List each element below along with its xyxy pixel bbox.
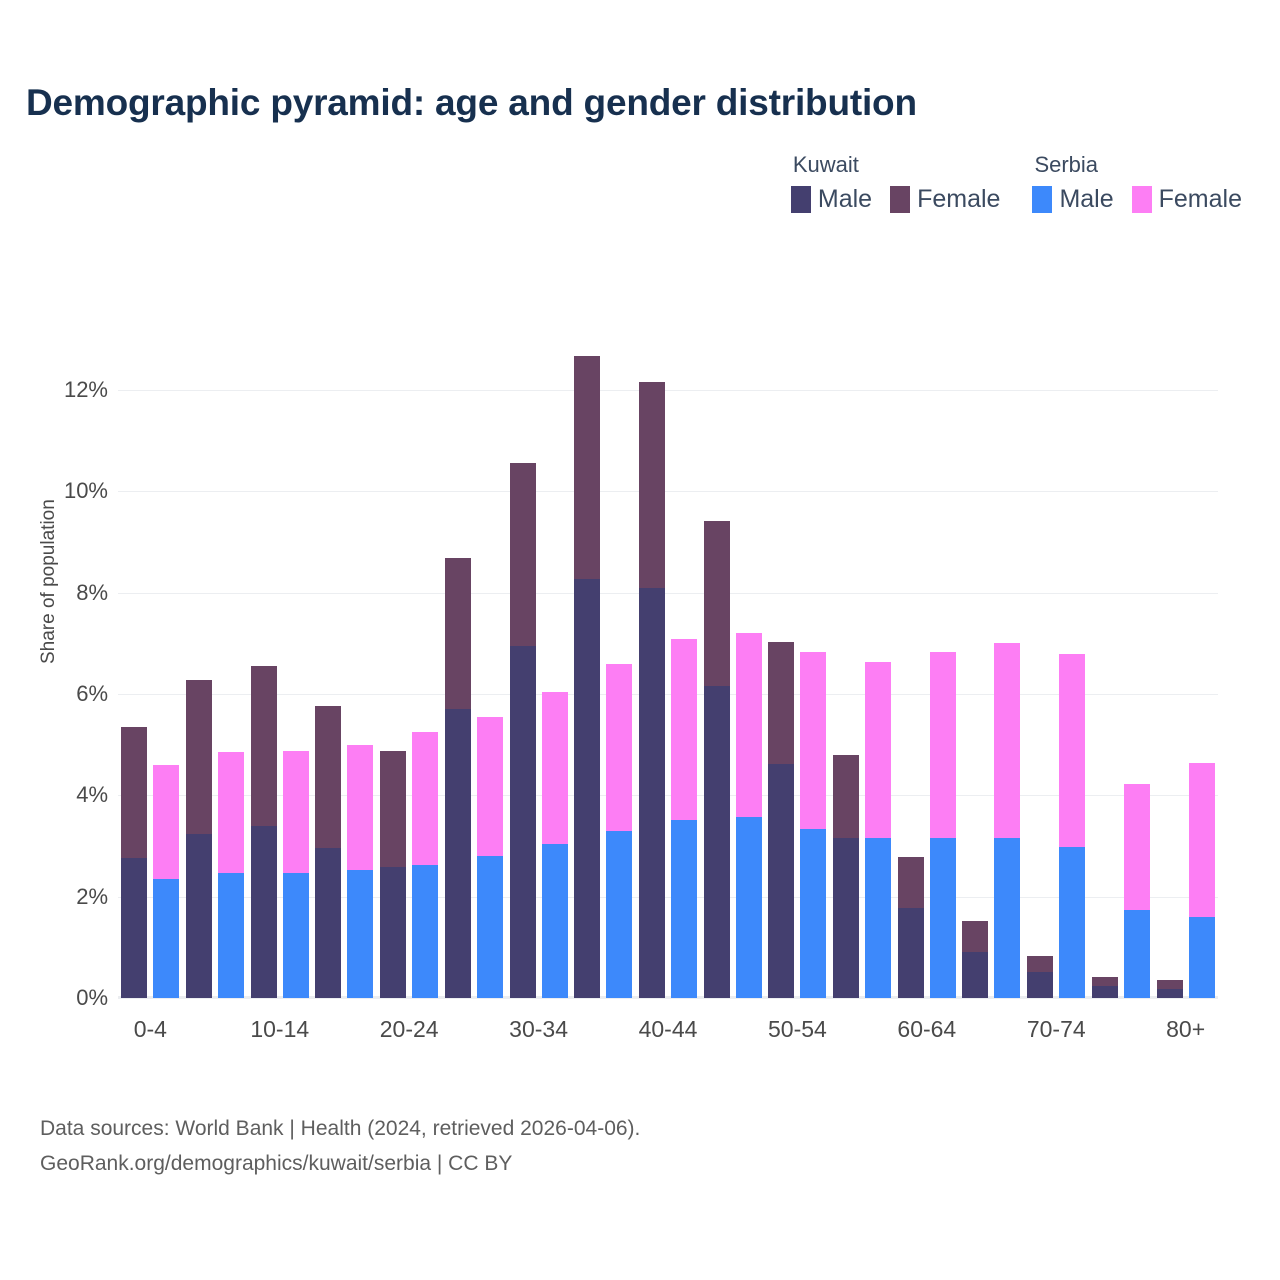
bar-segment-serbia-female[interactable] (283, 751, 309, 874)
bar-kuwait-65-69[interactable] (962, 921, 988, 998)
x-axis-tick-label: 0-4 (134, 1016, 167, 1043)
legend-group-serbia: Serbia Male Female (1032, 152, 1242, 213)
bar-segment-serbia-female[interactable] (1059, 654, 1085, 847)
x-axis-tick-label: 80+ (1166, 1016, 1205, 1043)
age-group-45-49 (700, 329, 765, 998)
bar-segment-kuwait-female[interactable] (833, 755, 859, 838)
bar-segment-serbia-male[interactable] (606, 831, 632, 998)
bar-segment-kuwait-male[interactable] (1157, 989, 1183, 998)
bar-segment-serbia-female[interactable] (412, 732, 438, 865)
bar-groups (118, 329, 1218, 998)
bar-kuwait-0-4[interactable] (121, 727, 147, 998)
bar-serbia-30-34[interactable] (542, 692, 568, 998)
bar-segment-serbia-male[interactable] (542, 844, 568, 998)
bar-serbia-15-19[interactable] (347, 745, 373, 998)
age-group-20-24 (377, 329, 442, 998)
age-group-5-9 (183, 329, 248, 998)
plot-area (118, 329, 1218, 998)
y-axis-tick-label: 4% (76, 782, 108, 808)
footer-note: Data sources: World Bank | Health (2024,… (40, 1112, 640, 1181)
bar-segment-serbia-female[interactable] (671, 639, 697, 820)
y-axis-tick-label: 6% (76, 681, 108, 707)
bar-segment-kuwait-male[interactable] (121, 858, 147, 998)
x-axis-tick-label: 40-44 (639, 1016, 698, 1043)
bar-segment-kuwait-female[interactable] (315, 706, 341, 848)
bar-segment-serbia-male[interactable] (736, 817, 762, 998)
bar-kuwait-35-39[interactable] (574, 356, 600, 998)
bar-segment-kuwait-male[interactable] (445, 709, 471, 998)
bar-segment-kuwait-female[interactable] (704, 521, 730, 686)
bar-kuwait-20-24[interactable] (380, 751, 406, 998)
bar-segment-kuwait-female[interactable] (121, 727, 147, 858)
x-axis-tick-label: 30-34 (509, 1016, 568, 1043)
legend-group-title-kuwait: Kuwait (791, 152, 1001, 178)
legend-group-kuwait: Kuwait Male Female (791, 152, 1001, 213)
bar-segment-serbia-female[interactable] (736, 633, 762, 817)
bar-kuwait-50-54[interactable] (768, 642, 794, 998)
bar-segment-serbia-female[interactable] (606, 664, 632, 831)
bar-segment-serbia-male[interactable] (1059, 847, 1085, 998)
bar-segment-kuwait-male[interactable] (1027, 972, 1053, 998)
y-axis-tick-label: 12% (64, 377, 108, 403)
legend-items-kuwait: Male Female (791, 186, 1001, 213)
bar-segment-kuwait-female[interactable] (251, 666, 277, 827)
bar-segment-serbia-male[interactable] (283, 873, 309, 998)
age-group-80+ (1153, 329, 1218, 998)
bar-segment-kuwait-female[interactable] (768, 642, 794, 765)
bar-kuwait-55-59[interactable] (833, 755, 859, 998)
bar-kuwait-60-64[interactable] (898, 857, 924, 998)
bar-segment-serbia-female[interactable] (218, 752, 244, 874)
footer-line-2: GeoRank.org/demographics/kuwait/serbia |… (40, 1147, 640, 1182)
page-title: Demographic pyramid: age and gender dist… (26, 82, 917, 124)
bar-segment-kuwait-male[interactable] (962, 952, 988, 998)
bar-serbia-60-64[interactable] (930, 652, 956, 998)
legend-item-serbia-female[interactable]: Female (1132, 186, 1242, 213)
legend-group-title-serbia: Serbia (1032, 152, 1242, 178)
chart-container: Demographic pyramid: age and gender dist… (0, 0, 1280, 1280)
legend-swatch-icon-kuwait-male (791, 186, 811, 213)
x-axis-tick-label: 20-24 (380, 1016, 439, 1043)
age-group-55-59 (830, 329, 895, 998)
y-axis-tick-label: 0% (76, 985, 108, 1011)
bar-kuwait-10-14[interactable] (251, 666, 277, 998)
age-group-15-19 (312, 329, 377, 998)
bar-segment-kuwait-female[interactable] (1027, 956, 1053, 971)
bar-segment-serbia-female[interactable] (994, 643, 1020, 838)
x-axis-tick-label: 10-14 (250, 1016, 309, 1043)
bar-segment-serbia-male[interactable] (1124, 910, 1150, 998)
legend-label-kuwait-male: Male (818, 187, 872, 212)
bar-segment-serbia-male[interactable] (994, 838, 1020, 998)
bar-kuwait-25-29[interactable] (445, 558, 471, 998)
age-group-35-39 (571, 329, 636, 998)
bar-segment-kuwait-female[interactable] (639, 382, 665, 588)
bar-segment-kuwait-male[interactable] (380, 867, 406, 998)
y-axis-tick-label: 10% (64, 478, 108, 504)
legend-item-kuwait-female[interactable]: Female (890, 186, 1000, 213)
bar-kuwait-5-9[interactable] (186, 680, 212, 998)
legend-item-kuwait-male[interactable]: Male (791, 186, 872, 213)
bar-segment-kuwait-female[interactable] (1157, 980, 1183, 989)
bar-segment-kuwait-female[interactable] (1092, 977, 1118, 987)
legend-item-serbia-male[interactable]: Male (1032, 186, 1113, 213)
bar-kuwait-70-74[interactable] (1027, 956, 1053, 998)
bar-kuwait-15-19[interactable] (315, 706, 341, 998)
bar-kuwait-75-79[interactable] (1092, 977, 1118, 998)
bar-serbia-35-39[interactable] (606, 664, 632, 998)
y-axis-tick-label: 2% (76, 884, 108, 910)
bar-segment-serbia-male[interactable] (800, 829, 826, 998)
bar-serbia-55-59[interactable] (865, 662, 891, 999)
bar-serbia-45-49[interactable] (736, 633, 762, 998)
bar-serbia-10-14[interactable] (283, 751, 309, 998)
age-group-60-64 (894, 329, 959, 998)
bar-segment-kuwait-male[interactable] (639, 588, 665, 998)
bar-segment-kuwait-male[interactable] (251, 826, 277, 998)
legend-label-serbia-female: Female (1159, 187, 1242, 212)
bar-segment-kuwait-female[interactable] (186, 680, 212, 835)
bar-segment-serbia-male[interactable] (930, 838, 956, 998)
legend-label-kuwait-female: Female (917, 187, 1000, 212)
x-axis-tick-label: 60-64 (897, 1016, 956, 1043)
age-group-75-79 (1089, 329, 1154, 998)
bar-segment-kuwait-male[interactable] (574, 579, 600, 998)
bar-segment-serbia-female[interactable] (347, 745, 373, 871)
bar-segment-serbia-male[interactable] (347, 870, 373, 998)
bar-kuwait-30-34[interactable] (510, 463, 536, 998)
bar-segment-kuwait-female[interactable] (445, 558, 471, 710)
bar-segment-serbia-female[interactable] (542, 692, 568, 845)
bar-serbia-50-54[interactable] (800, 652, 826, 998)
bar-segment-kuwait-male[interactable] (1092, 986, 1118, 998)
age-group-50-54 (765, 329, 830, 998)
bar-segment-serbia-female[interactable] (477, 717, 503, 856)
legend-groups: Kuwait Male Female Serbia (791, 152, 1242, 213)
age-group-30-34 (506, 329, 571, 998)
bar-segment-kuwait-female[interactable] (380, 751, 406, 868)
x-axis-tick-label: 50-54 (768, 1016, 827, 1043)
bar-serbia-65-69[interactable] (994, 643, 1020, 998)
bar-segment-serbia-male[interactable] (671, 820, 697, 998)
gridline (118, 998, 1218, 999)
bar-segment-kuwait-female[interactable] (962, 921, 988, 952)
legend-swatch-icon-kuwait-female (890, 186, 910, 213)
legend-swatch-icon-serbia-male (1032, 186, 1052, 213)
bar-serbia-20-24[interactable] (412, 732, 438, 998)
bar-segment-kuwait-male[interactable] (768, 764, 794, 998)
bar-segment-kuwait-female[interactable] (574, 356, 600, 579)
bar-serbia-80+[interactable] (1189, 763, 1215, 998)
footer-line-1: Data sources: World Bank | Health (2024,… (40, 1112, 640, 1147)
legend-label-serbia-male: Male (1059, 187, 1113, 212)
bar-kuwait-80+[interactable] (1157, 980, 1183, 998)
age-group-70-74 (1024, 329, 1089, 998)
bar-segment-serbia-male[interactable] (865, 838, 891, 998)
legend-swatch-icon-serbia-female (1132, 186, 1152, 213)
bar-segment-kuwait-male[interactable] (315, 848, 341, 998)
age-group-40-44 (636, 329, 701, 998)
bar-segment-kuwait-female[interactable] (510, 463, 536, 645)
bar-segment-serbia-male[interactable] (477, 856, 503, 998)
bar-segment-serbia-male[interactable] (412, 865, 438, 998)
bar-segment-serbia-female[interactable] (1124, 784, 1150, 911)
bar-segment-serbia-female[interactable] (800, 652, 826, 829)
bar-serbia-0-4[interactable] (153, 765, 179, 998)
bar-segment-serbia-female[interactable] (1189, 763, 1215, 917)
legend-items-serbia: Male Female (1032, 186, 1242, 213)
age-group-65-69 (959, 329, 1024, 998)
bar-segment-kuwait-female[interactable] (898, 857, 924, 908)
age-group-0-4 (118, 329, 183, 998)
bar-segment-kuwait-male[interactable] (898, 908, 924, 998)
bar-serbia-5-9[interactable] (218, 752, 244, 998)
bar-segment-serbia-male[interactable] (218, 873, 244, 998)
bar-serbia-70-74[interactable] (1059, 654, 1085, 998)
bar-serbia-25-29[interactable] (477, 717, 503, 998)
bar-segment-kuwait-male[interactable] (510, 646, 536, 998)
bar-kuwait-45-49[interactable] (704, 521, 730, 998)
bar-segment-serbia-female[interactable] (865, 662, 891, 838)
x-axis-tick-label: 70-74 (1027, 1016, 1086, 1043)
bar-segment-kuwait-male[interactable] (704, 686, 730, 998)
chart-legend: Kuwait Male Female Serbia (791, 152, 1242, 213)
age-group-25-29 (442, 329, 507, 998)
bar-segment-serbia-female[interactable] (930, 652, 956, 837)
bar-kuwait-40-44[interactable] (639, 382, 665, 998)
bar-segment-serbia-male[interactable] (1189, 917, 1215, 998)
bar-serbia-40-44[interactable] (671, 639, 697, 998)
bar-segment-kuwait-male[interactable] (186, 834, 212, 998)
y-axis-tick-label: 8% (76, 580, 108, 606)
bar-segment-kuwait-male[interactable] (833, 838, 859, 998)
age-group-10-14 (247, 329, 312, 998)
y-axis-title: Share of population (38, 499, 60, 664)
bar-segment-serbia-female[interactable] (153, 765, 179, 879)
bar-segment-serbia-male[interactable] (153, 879, 179, 998)
bar-serbia-75-79[interactable] (1124, 784, 1150, 998)
